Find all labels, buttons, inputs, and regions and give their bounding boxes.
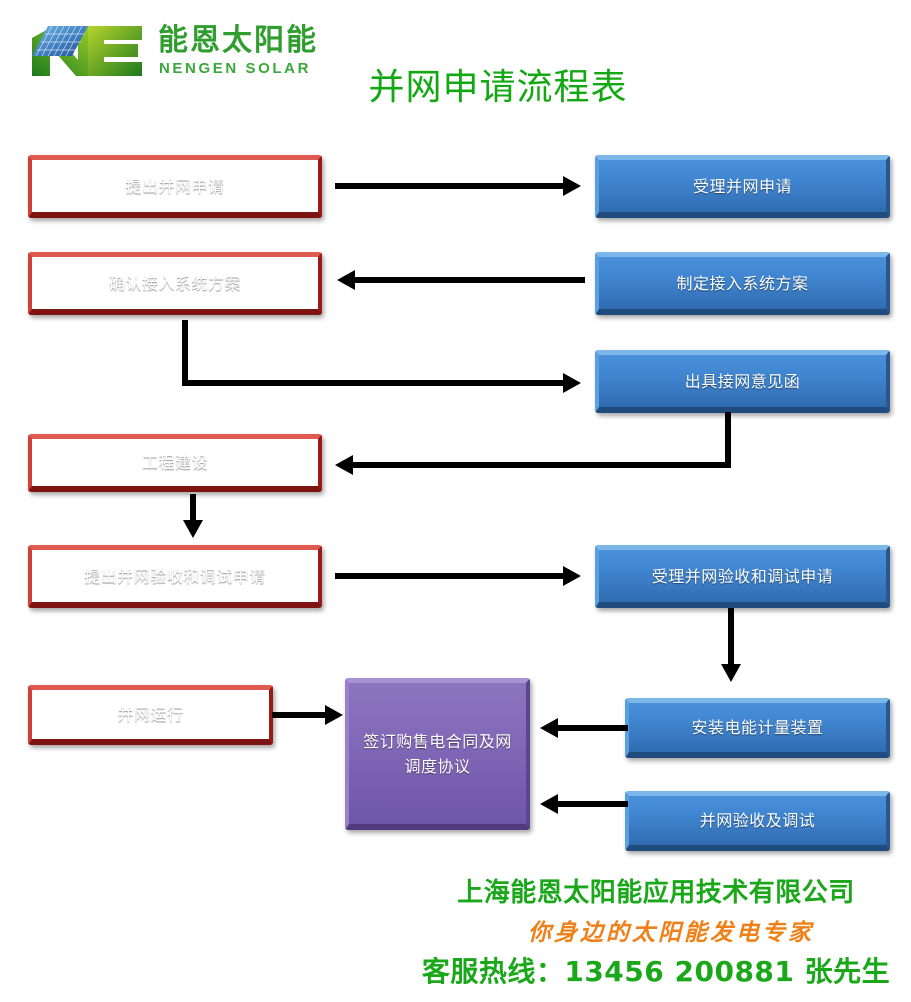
arrow-head-down-icon — [183, 520, 203, 538]
footer-hotline: 客服热线：13456 200881 张先生 — [411, 950, 901, 990]
flow-node-project-construction[interactable]: 工程建设 — [28, 434, 322, 492]
flow-node-label: 受理并网验收和调试申请 — [644, 564, 842, 589]
logo-chinese-name: 能恩太阳能 — [158, 24, 318, 58]
flow-node-label: 工程建设 — [134, 450, 216, 475]
connector-line — [728, 608, 734, 668]
flow-node-accept-acceptance-request[interactable]: 受理并网验收和调试申请 — [595, 545, 890, 608]
company-logo: 能恩太阳能 NENGEN SOLAR — [28, 22, 328, 84]
connector-line — [725, 412, 731, 468]
flow-node-label: 并网运行 — [109, 702, 191, 727]
connector-line — [272, 712, 327, 718]
flow-node-submit-application[interactable]: 提出并网申请 — [28, 155, 322, 218]
connector-line — [355, 277, 585, 283]
flow-node-label: 安装电能计量装置 — [683, 715, 831, 740]
connector-line — [335, 183, 565, 189]
arrow-head-left-icon — [337, 270, 355, 290]
flow-node-label: 受理并网申请 — [685, 174, 800, 199]
flow-node-grid-operation[interactable]: 并网运行 — [28, 685, 273, 745]
flow-node-confirm-access-scheme[interactable]: 确认接入系统方案 — [28, 252, 322, 315]
flow-node-label: 提出并网申请 — [117, 174, 232, 199]
flow-node-sign-ppa-contract[interactable]: 签订购售电合同及网调度协议 — [345, 678, 530, 830]
connector-line — [335, 573, 565, 579]
arrow-head-right-icon — [563, 566, 581, 586]
arrow-head-left-icon — [335, 455, 353, 475]
flow-node-label: 出具接网意见函 — [677, 369, 809, 394]
arrow-head-left-icon — [540, 718, 558, 738]
flowchart-canvas: 能恩太阳能 NENGEN SOLAR 并网申请流程表 提出并网申请 受理并网申请… — [0, 0, 911, 1002]
arrow-head-down-icon — [721, 664, 741, 682]
connector-line — [558, 801, 628, 807]
arrow-head-right-icon — [563, 373, 581, 393]
connector-line — [182, 380, 567, 386]
logo-english-name: NENGEN SOLAR — [159, 60, 311, 77]
flow-node-grid-acceptance-test[interactable]: 并网验收及调试 — [625, 791, 890, 851]
arrow-head-left-icon — [540, 794, 558, 814]
flow-node-label: 并网验收及调试 — [692, 808, 824, 833]
flow-node-draft-access-scheme[interactable]: 制定接入系统方案 — [595, 252, 890, 315]
flow-node-label: 确认接入系统方案 — [101, 271, 249, 296]
flow-node-accept-application[interactable]: 受理并网申请 — [595, 155, 890, 218]
flow-node-label: 制定接入系统方案 — [668, 271, 816, 296]
footer-slogan: 你身边的太阳能发电专家 — [441, 913, 901, 947]
arrow-head-right-icon — [325, 705, 343, 725]
arrow-head-right-icon — [563, 176, 581, 196]
connector-line — [182, 320, 188, 386]
solar-panel-ne-logo-icon — [28, 22, 146, 80]
connector-line — [558, 725, 628, 731]
flow-node-submit-acceptance-request[interactable]: 提出并网验收和调试申请 — [28, 545, 322, 608]
flow-node-label: 签订购售电合同及网调度协议 — [349, 729, 526, 779]
page-title: 并网申请流程表 — [333, 58, 663, 110]
flow-node-label: 提出并网验收和调试申请 — [76, 564, 274, 589]
flow-node-install-meter[interactable]: 安装电能计量装置 — [625, 698, 890, 758]
footer-company-name: 上海能恩太阳能应用技术有限公司 — [411, 872, 901, 909]
connector-line — [353, 462, 731, 468]
flow-node-issue-grid-opinion-letter[interactable]: 出具接网意见函 — [595, 350, 890, 413]
